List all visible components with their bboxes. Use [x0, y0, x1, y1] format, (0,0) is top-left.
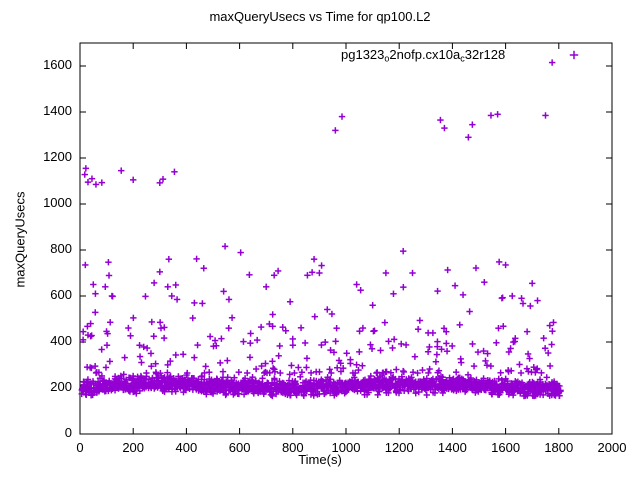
- y-tick-label: 400: [26, 333, 72, 348]
- x-tick-label: 1800: [529, 440, 589, 455]
- y-tick-label: 1200: [26, 149, 72, 164]
- x-tick-label: 0: [50, 440, 110, 455]
- x-tick-label: 800: [263, 440, 323, 455]
- y-tick-label: 1400: [26, 103, 72, 118]
- y-tick-label: 1000: [26, 195, 72, 210]
- scatter-plot-canvas: [0, 0, 640, 480]
- x-tick-label: 400: [156, 440, 216, 455]
- y-tick-label: 800: [26, 241, 72, 256]
- x-tick-label: 600: [210, 440, 270, 455]
- y-tick-label: 1600: [26, 57, 72, 72]
- x-tick-label: 2000: [582, 440, 640, 455]
- x-tick-label: 1400: [422, 440, 482, 455]
- x-tick-label: 1000: [316, 440, 376, 455]
- y-tick-label: 200: [26, 379, 72, 394]
- y-tick-label: 600: [26, 287, 72, 302]
- y-tick-label: 0: [26, 425, 72, 440]
- legend-marker-plus-icon: [570, 51, 578, 59]
- x-tick-label: 200: [103, 440, 163, 455]
- chart-root: maxQueryUsecs vs Time for qp100.L2 Time(…: [0, 0, 640, 480]
- x-tick-label: 1600: [476, 440, 536, 455]
- data-points: [79, 59, 564, 399]
- x-tick-label: 1200: [369, 440, 429, 455]
